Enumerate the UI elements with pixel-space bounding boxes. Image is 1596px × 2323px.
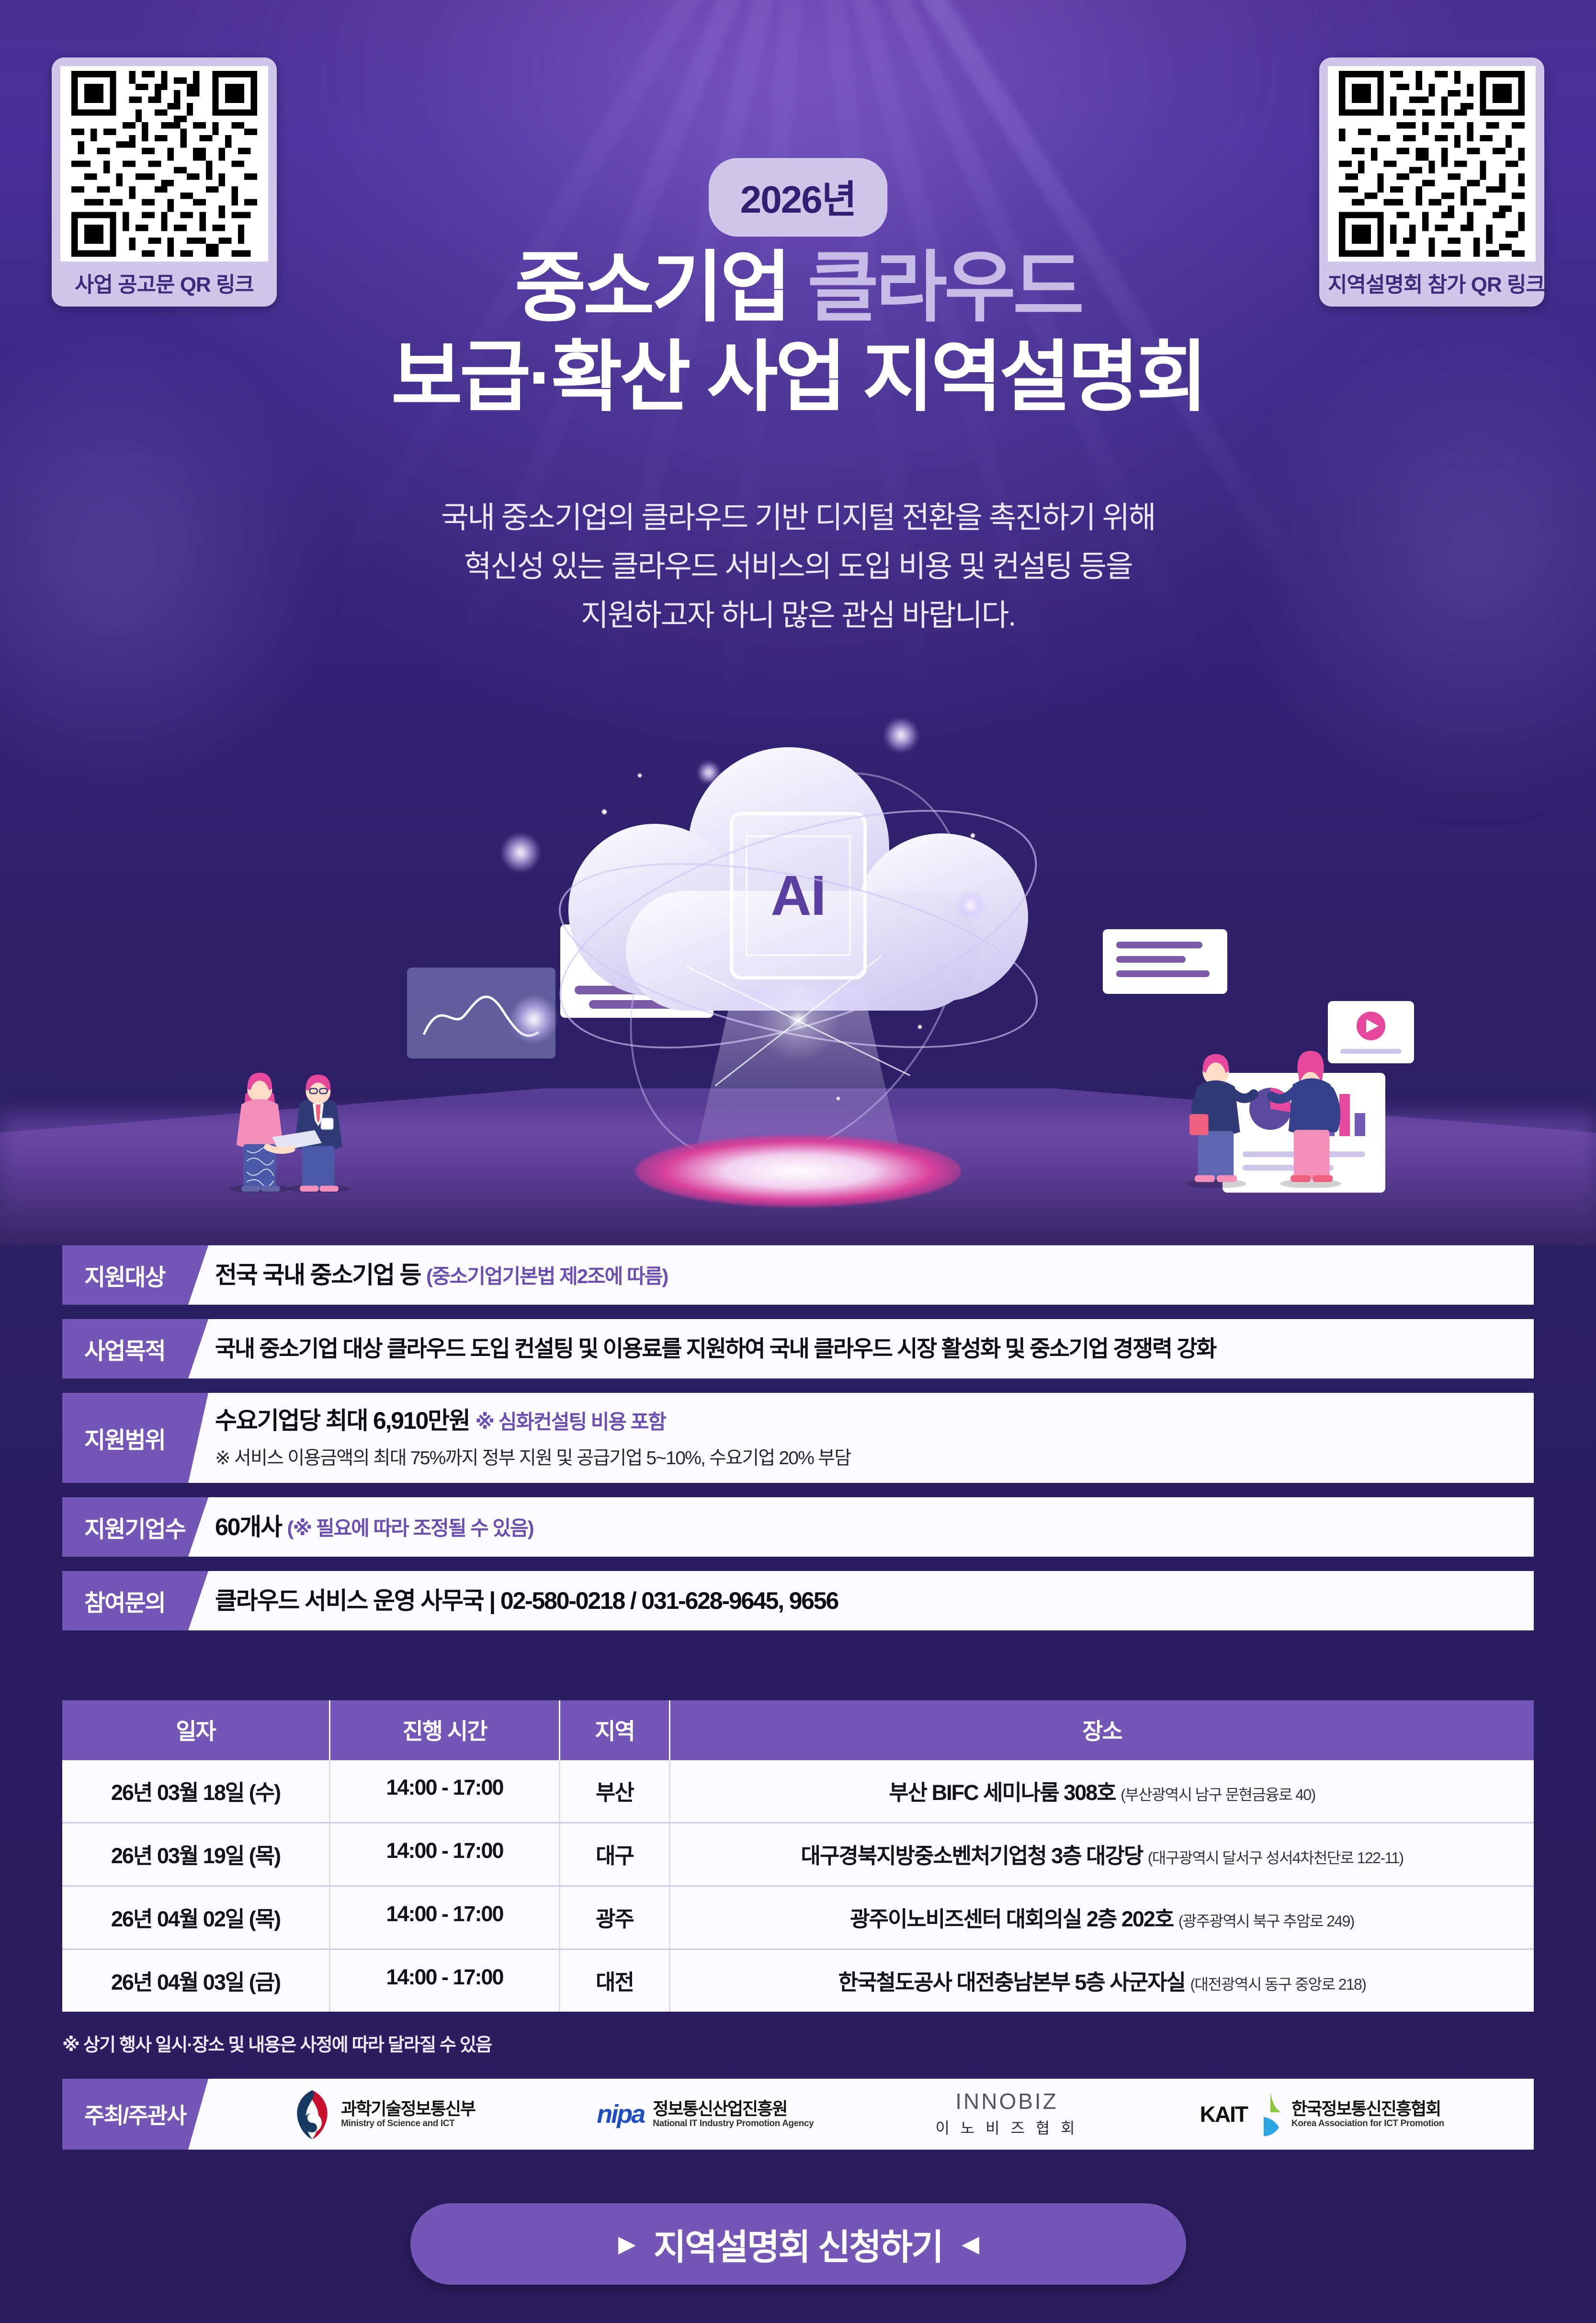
info-row-company-count: 지원기업수 60개사 (※ 필요에 따라 조정될 수 있음) [62,1497,1534,1557]
info-row-body: 국내 중소기업 대상 클라우드 도입 컨설팅 및 이용료를 지원하여 국내 클라… [188,1319,1534,1378]
qr-code-announcement-icon[interactable] [60,66,268,262]
column-header-area: 지역 [560,1700,670,1760]
column-header-time: 진행 시간 [330,1700,560,1760]
schedule-table: 일자 진행 시간 지역 장소 26년 03월 18일 (수) 14:00 - 1… [62,1700,1534,2012]
logo-text-en: Ministry of Science and ICT [341,2118,475,2129]
info-row-body: 클라우드 서비스 운영 사무국 | 02-580-0218 / 031-628-… [188,1571,1534,1630]
title-line1-part2: 클라우드 [807,244,1081,331]
page-title: 중소기업 클라우드 보급·확산 사업 지역설명회 [0,244,1596,421]
logo-innobiz: INNOBIZ 이 노 비 즈 협 회 [935,2090,1078,2138]
table-row: 26년 03월 18일 (수) 14:00 - 17:00 부산 부산 BIFC… [62,1760,1534,1823]
info-row-label: 지원기업수 [62,1497,208,1557]
column-header-date: 일자 [62,1700,330,1760]
info-row-note: (중소기업기본법 제2조에 따름) [426,1265,668,1287]
info-row-scope: 지원범위 수요기업당 최대 6,910만원 ※ 심화컨설팅 비용 포함 ※ 서비… [62,1393,1534,1483]
info-row-main: 국내 중소기업 대상 클라우드 도입 컨설팅 및 이용료를 지원하여 국내 클라… [215,1336,1216,1361]
cell-place: 광주이노비즈센터 대회의실 2층 202호 (광주광역시 북구 추암로 249) [670,1887,1534,1948]
qr-code-registration-icon[interactable] [1328,66,1536,262]
arrow-right-icon: ▶ [618,2231,634,2257]
apply-button-label: 지역설명회 신청하기 [654,2219,942,2270]
cell-time: 14:00 - 17:00 [330,1950,560,2012]
info-row-label: 사업목적 [62,1319,208,1378]
title-line1-part1: 중소기업 [515,244,807,331]
people-right-group [1203,910,1452,1188]
logo-text-en: National IT Industry Promotion Agency [653,2118,814,2129]
cell-area: 대구 [560,1823,670,1885]
subtitle-line-1: 국내 중소기업의 클라우드 기반 디지털 전환을 촉진하기 위해 [0,493,1596,542]
info-row-main: 클라우드 서비스 운영 사무국 | 02-580-0218 / 031-628-… [215,1587,838,1614]
column-header-place: 장소 [670,1700,1534,1760]
info-row-purpose: 사업목적 국내 중소기업 대상 클라우드 도입 컨설팅 및 이용료를 지원하여 … [62,1319,1534,1378]
info-row-main: 전국 국내 중소기업 등 [215,1262,426,1288]
cell-date: 26년 03월 19일 (목) [62,1823,330,1885]
msit-emblem-icon [292,2087,332,2141]
info-row-body: 수요기업당 최대 6,910만원 ※ 심화컨설팅 비용 포함 ※ 서비스 이용금… [188,1393,1534,1483]
place-name: 한국철도공사 대전충남본부 5층 사군자실 [838,1970,1185,1994]
title-line2: 보급·확산 사업 지역설명회 [0,334,1596,421]
info-row-label: 지원대상 [62,1245,208,1305]
sponsors-bar: 주최/주관사 과학기술정보통신부 Ministry of Science and… [62,2079,1534,2150]
table-row: 26년 04월 02일 (목) 14:00 - 17:00 광주 광주이노비즈센… [62,1887,1534,1950]
holo-pad [635,1135,961,1207]
info-row-label: 참여문의 [62,1571,208,1630]
place-name: 광주이노비즈센터 대회의실 2층 202호 [850,1907,1173,1931]
innobiz-wordmark: INNOBIZ [955,2090,1058,2112]
sponsors-label: 주최/주관사 [62,2079,208,2150]
info-row-note: (※ 필요에 따라 조정될 수 있음) [287,1517,533,1539]
info-row-body: 60개사 (※ 필요에 따라 조정될 수 있음) [188,1497,1534,1557]
logo-text-en: Korea Association for ICT Promotion [1291,2118,1444,2129]
cell-time: 14:00 - 17:00 [330,1887,560,1948]
logo-text-ko: 이 노 비 즈 협 회 [935,2116,1078,2138]
sparkle-burst-icon [674,896,923,1145]
cell-time: 14:00 - 17:00 [330,1823,560,1885]
nipa-wordmark: nipa [597,2099,644,2129]
people-left-group [206,920,397,1188]
info-row-body: 전국 국내 중소기업 등 (중소기업기본법 제2조에 따름) [188,1245,1534,1305]
sponsors-logos: 과학기술정보통신부 Ministry of Science and ICT ni… [188,2079,1534,2150]
cell-date: 26년 03월 18일 (수) [62,1760,330,1822]
table-row: 26년 03월 19일 (목) 14:00 - 17:00 대구 대구경북지방중… [62,1823,1534,1887]
two-people-laptop-icon [196,1049,397,1193]
logo-text-ko: 정보통신산업진흥원 [653,2099,814,2118]
cell-place: 대구경북지방중소벤처기업청 3층 대강당 (대구광역시 달서구 성서4차천단로 … [670,1823,1534,1885]
cell-date: 26년 04월 02일 (목) [62,1887,330,1948]
logo-text-ko: 과학기술정보통신부 [341,2099,475,2118]
cell-time: 14:00 - 17:00 [330,1760,560,1822]
hero-illustration: AI [0,661,1596,1226]
table-row: 26년 04월 03일 (금) 14:00 - 17:00 대전 한국철도공사 … [62,1950,1534,2012]
info-row-contact: 참여문의 클라우드 서비스 운영 사무국 | 02-580-0218 / 031… [62,1571,1534,1630]
place-address: (대전광역시 동구 중앙로 218) [1190,1976,1366,1993]
disclaimer-note: ※ 상기 행사 일시·장소 및 내용은 사정에 따라 달라질 수 있음 [62,2030,491,2056]
subtitle: 국내 중소기업의 클라우드 기반 디지털 전환을 촉진하기 위해 혁신성 있는 … [0,493,1596,640]
info-row-main: 60개사 [215,1514,287,1540]
two-people-presenting-icon [1151,1030,1376,1188]
logo-msit: 과학기술정보통신부 Ministry of Science and ICT [292,2087,475,2141]
place-address: (광주광역시 북구 추암로 249) [1178,1913,1354,1930]
apply-button[interactable]: ▶ 지역설명회 신청하기 ◀ [410,2203,1186,2285]
cell-area: 부산 [560,1760,670,1822]
subtitle-line-3: 지원하고자 하니 많은 관심 바랍니다. [0,591,1596,640]
info-row-note: ※ 심화컨설팅 비용 포함 [475,1411,666,1433]
cell-area: 대전 [560,1950,670,2012]
subtitle-line-2: 혁신성 있는 클라우드 서비스의 도입 비용 및 컨설팅 등을 [0,542,1596,591]
year-badge: 2026년 [709,158,888,237]
chat-bubble-screen-icon [1103,929,1227,994]
info-row-label: 지원범위 [62,1393,208,1483]
logo-text-ko: 한국정보통신진흥협회 [1291,2099,1444,2118]
info-row-target: 지원대상 전국 국내 중소기업 등 (중소기업기본법 제2조에 따름) [62,1245,1534,1305]
info-row-main: 수요기업당 최대 6,910만원 [215,1407,475,1434]
info-row-sub: ※ 서비스 이용금액의 최대 75%까지 정부 지원 및 공급기업 5~10%,… [215,1443,1515,1470]
cell-place: 부산 BIFC 세미나룸 308호 (부산광역시 남구 문현금융로 40) [670,1760,1534,1822]
logo-nipa: nipa 정보통신산업진흥원 National IT Industry Prom… [597,2099,814,2129]
cell-area: 광주 [560,1887,670,1948]
cell-place: 한국철도공사 대전충남본부 5층 사군자실 (대전광역시 동구 중앙로 218) [670,1950,1534,2012]
info-rows: 지원대상 전국 국내 중소기업 등 (중소기업기본법 제2조에 따름) 사업목적… [62,1245,1534,1645]
kait-wordmark: KAIT [1200,2101,1247,2127]
place-name: 대구경북지방중소벤처기업청 3층 대강당 [801,1844,1143,1868]
place-name: 부산 BIFC 세미나룸 308호 [889,1780,1115,1805]
kait-emblem-icon [1256,2090,1283,2138]
place-address: (대구광역시 달서구 성서4차천단로 122-11) [1148,1849,1404,1867]
arrow-left-icon: ◀ [962,2231,978,2257]
logo-kait: 한국정보통신진흥협회 Korea Association for ICT Pro… [1200,2090,1444,2138]
schedule-table-header: 일자 진행 시간 지역 장소 [62,1700,1534,1760]
cell-date: 26년 04월 03일 (금) [62,1950,330,2012]
place-address: (부산광역시 남구 문현금융로 40) [1121,1786,1315,1803]
cloud-ai-graphic: AI [540,690,1057,1169]
